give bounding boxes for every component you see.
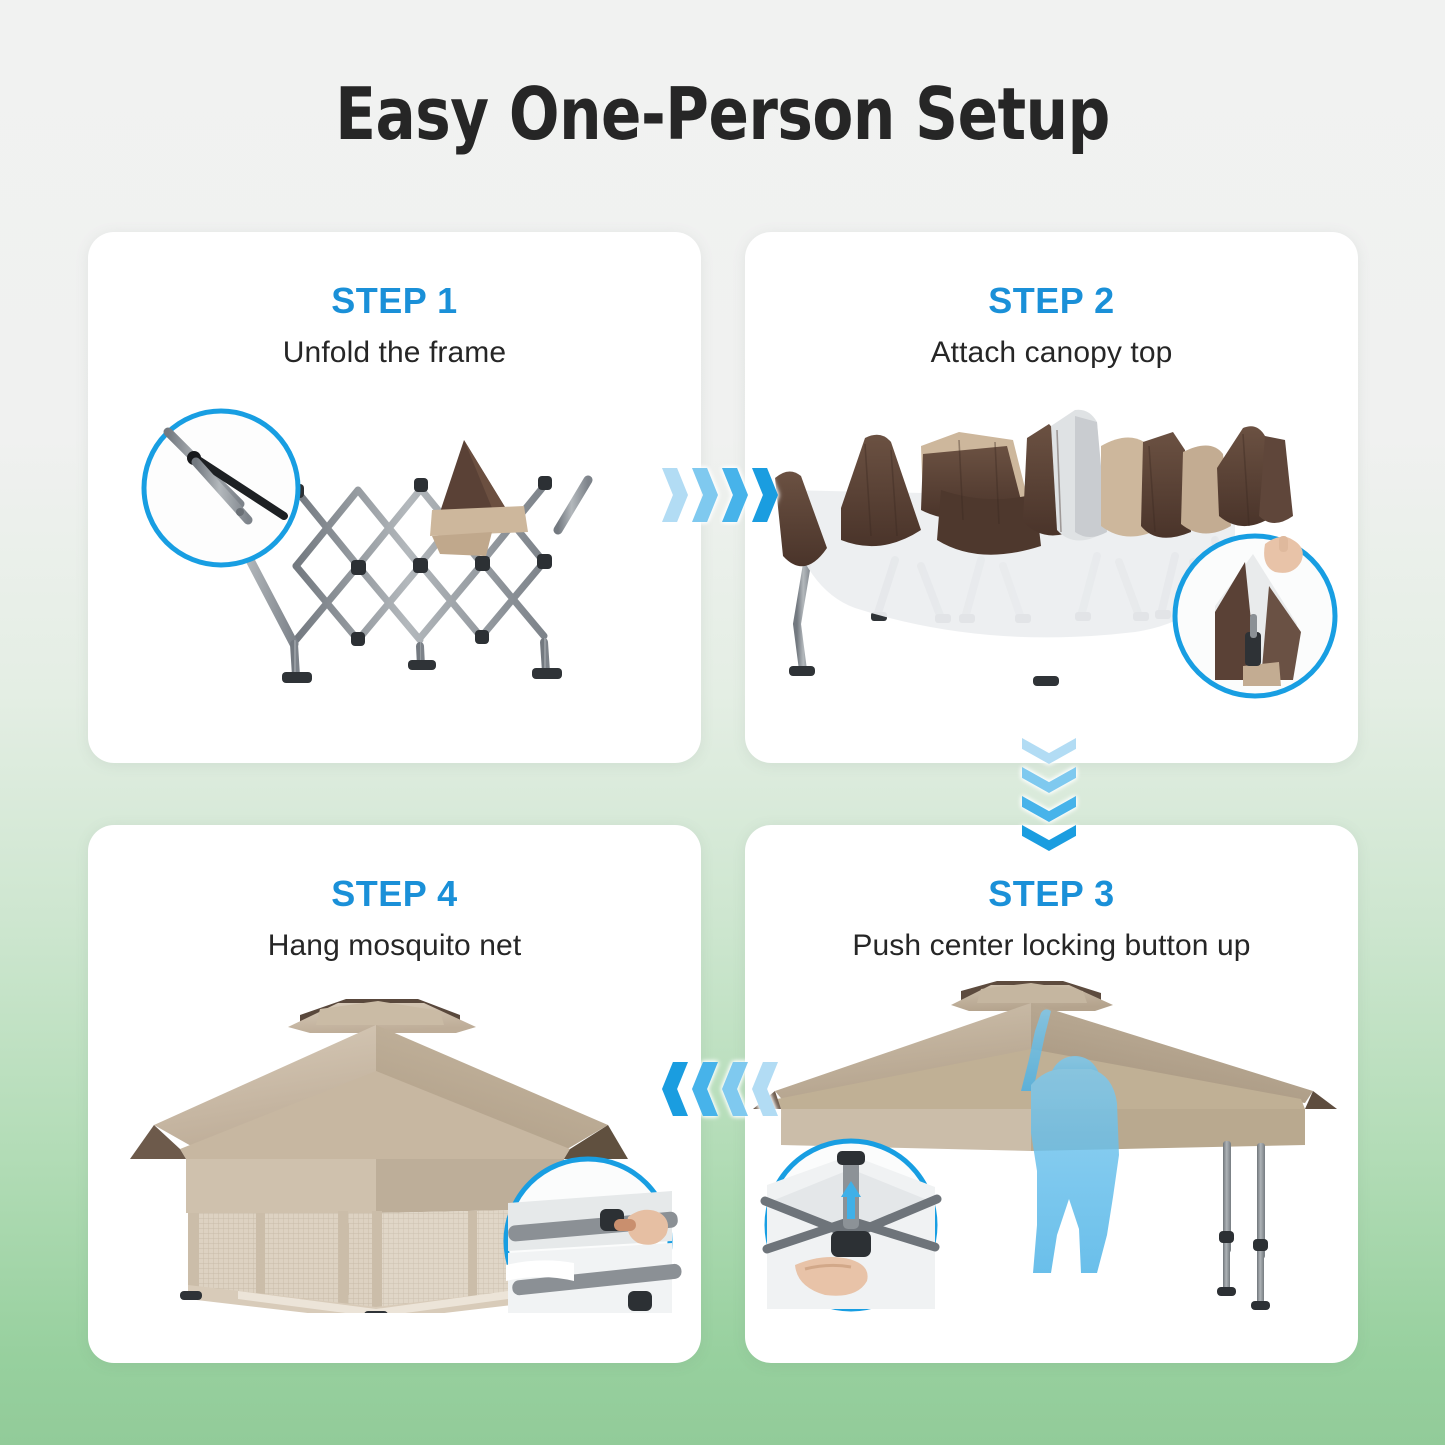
step-4-illustration — [88, 973, 701, 1303]
chevron-left-icon-4 — [752, 1062, 778, 1116]
step-card-3: STEP 3 Push center locking button up — [745, 825, 1358, 1363]
step-3-description: Push center locking button up — [745, 929, 1358, 963]
chevron-right-icon-4 — [752, 468, 778, 522]
chevron-left-icon-2 — [692, 1062, 718, 1116]
step-1-description: Unfold the frame — [88, 336, 701, 370]
infographic-page: Easy One-Person Setup STEP 1 Unfold the … — [0, 0, 1445, 1445]
chevron-down-icon-1 — [1022, 738, 1076, 764]
step-2-label: STEP 2 — [745, 280, 1358, 322]
step-card-2: STEP 2 Attach canopy top — [745, 232, 1358, 763]
step-3-illustration — [745, 973, 1358, 1303]
canopy-draped-svg — [745, 380, 1358, 710]
chevron-down-icon-4 — [1022, 825, 1076, 851]
chevron-right-icon-1 — [662, 468, 688, 522]
folded-frame-svg — [88, 380, 701, 710]
erected-gazebo-svg — [745, 973, 1358, 1313]
step-1-illustration — [88, 380, 701, 710]
arrow-step3-to-step4 — [662, 1062, 778, 1116]
chevron-left-icon-3 — [722, 1062, 748, 1116]
chevron-down-icon-3 — [1022, 796, 1076, 822]
step-2-illustration — [745, 380, 1358, 710]
step-card-1: STEP 1 Unfold the frame — [88, 232, 701, 763]
arrow-step2-to-step3 — [1022, 738, 1076, 851]
step-card-4: STEP 4 Hang mosquito net — [88, 825, 701, 1363]
page-title: Easy One-Person Setup — [58, 72, 1387, 156]
arrow-step1-to-step2 — [662, 468, 778, 522]
chevron-down-icon-2 — [1022, 767, 1076, 793]
step-1-label: STEP 1 — [88, 280, 701, 322]
chevron-right-icon-3 — [722, 468, 748, 522]
step-4-description: Hang mosquito net — [88, 929, 701, 963]
step-4-label: STEP 4 — [88, 873, 701, 915]
step-3-label: STEP 3 — [745, 873, 1358, 915]
chevron-right-icon-2 — [692, 468, 718, 522]
chevron-left-icon-1 — [662, 1062, 688, 1116]
step-2-description: Attach canopy top — [745, 336, 1358, 370]
gazebo-mosquito-net-svg — [88, 973, 701, 1313]
